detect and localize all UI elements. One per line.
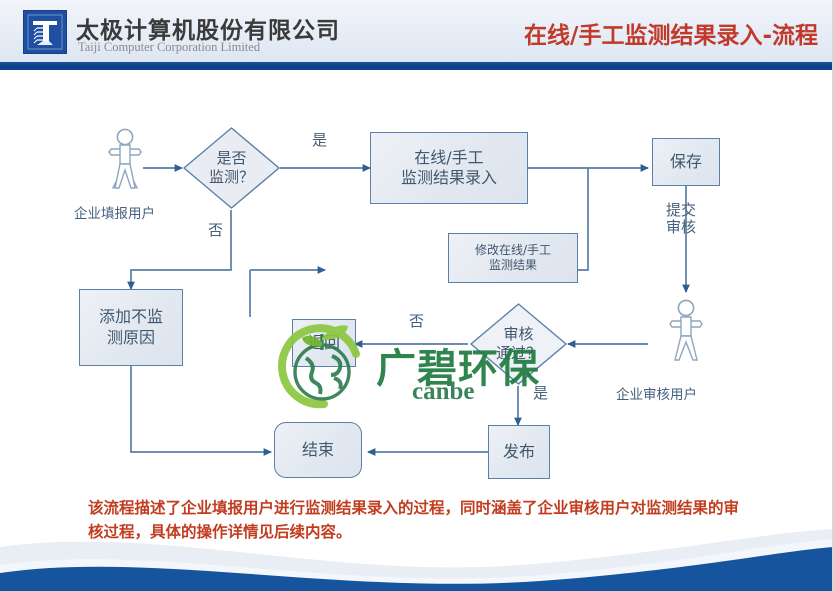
node-end[interactable]: 结束: [274, 422, 362, 478]
edge-label-submit-review-line1: 提交: [666, 202, 696, 219]
header-divider-rule: [0, 62, 834, 70]
flowchart-canvas: 是否 监测？ 在线/手工 监测结果录入 保存 修改在线/手工 监测结果 添加不监: [0, 70, 834, 520]
footer-wave-decoration: [0, 521, 834, 591]
actor-caption-filer: 企业填报用户: [74, 202, 155, 222]
decision-review-passed[interactable]: 审核 通过？: [469, 302, 568, 386]
node-add-no-monitor-reason-line2: 测原因: [99, 328, 163, 348]
node-add-no-monitor-reason-line1: 添加不监: [99, 307, 163, 327]
edge-label-submit-review-line2: 审核: [666, 219, 696, 236]
edge-label-submit-review: 提交 审核: [666, 202, 696, 237]
page-title: 在线/手工监测结果录入-流程: [524, 16, 818, 50]
person-icon-filer: [101, 128, 149, 195]
actor-caption-reviewer: 企业审核用户: [616, 383, 697, 403]
edge-label-review-yes: 是: [533, 385, 548, 402]
node-result-entry[interactable]: 在线/手工 监测结果录入: [370, 132, 528, 204]
node-modify-result[interactable]: 修改在线/手工 监测结果: [448, 233, 578, 283]
edge-label-review-no: 否: [409, 313, 424, 330]
node-save[interactable]: 保存: [652, 138, 720, 186]
node-modify-result-line1: 修改在线/手工: [475, 243, 551, 258]
edge-label-monitor-yes: 是: [312, 132, 327, 149]
brand-name-en: Taiji Computer Corporation Limited: [78, 40, 260, 55]
decision-is-monitoring[interactable]: 是否 监测？: [182, 126, 281, 210]
taiji-logo-icon: [23, 10, 67, 54]
edge-label-monitor-no: 否: [208, 222, 223, 239]
slide-root: 太极计算机股份有限公司 Taiji Computer Corporation L…: [0, 0, 834, 591]
node-result-entry-line2: 监测结果录入: [401, 168, 497, 188]
node-reject-return[interactable]: 退回: [292, 319, 356, 367]
node-result-entry-line1: 在线/手工: [401, 148, 497, 168]
person-icon-reviewer: [662, 298, 710, 367]
node-add-no-monitor-reason[interactable]: 添加不监 测原因: [79, 289, 183, 366]
node-modify-result-line2: 监测结果: [475, 258, 551, 273]
node-publish[interactable]: 发布: [488, 425, 550, 479]
